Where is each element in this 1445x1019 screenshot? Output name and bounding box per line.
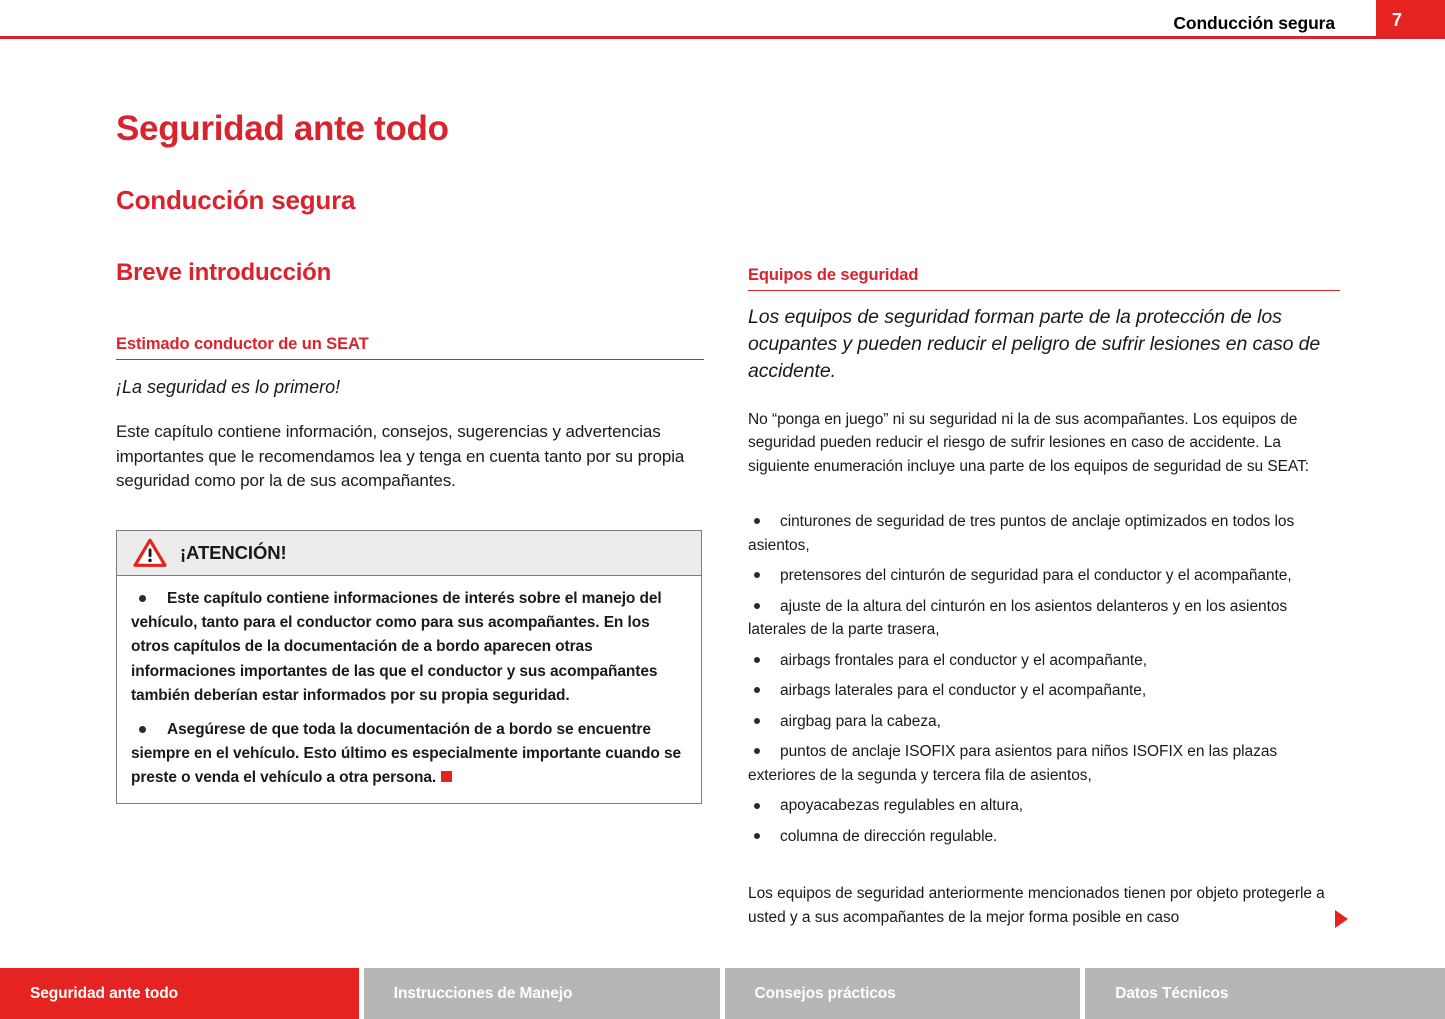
- chapter-subtitle: Conducción segura: [116, 187, 355, 213]
- page-title: Seguridad ante todo: [116, 111, 449, 146]
- list-item: apoyacabezas regulables en altura,: [748, 794, 1340, 818]
- footer-tab-instrucciones-de-manejo[interactable]: Instrucciones de Manejo: [364, 968, 720, 1019]
- subsection-heading-estimado-conductor: Estimado conductor de un SEAT: [116, 335, 704, 360]
- right-closing-paragraph-wrapper: Los equipos de seguridad anteriormente m…: [748, 882, 1340, 930]
- page-content: Seguridad ante todo Conducción segura Br…: [0, 38, 1445, 958]
- warning-box: ¡ATENCIÓN! Este capítulo contiene inform…: [116, 530, 702, 804]
- list-item: columna de dirección regulable.: [748, 825, 1340, 849]
- end-of-note-marker-icon: [441, 771, 452, 782]
- right-body-paragraph: No “ponga en juego” ni su seguridad ni l…: [748, 408, 1340, 478]
- section-title: Breve introducción: [116, 261, 331, 285]
- list-item-text: cinturones de seguridad de tres puntos d…: [748, 510, 1340, 557]
- bullet-dot-icon: [754, 657, 760, 663]
- list-item-text: airgbag para la cabeza,: [748, 710, 1340, 734]
- warning-item-text: Asegúrese de que toda la documentación d…: [131, 718, 687, 791]
- subsection-heading-equipos-de-seguridad: Equipos de seguridad: [748, 266, 1340, 291]
- continue-arrow-icon: [1335, 910, 1348, 928]
- footer-tab-label: Instrucciones de Manejo: [394, 985, 573, 1003]
- footer-tab-consejos-practicos[interactable]: Consejos prácticos: [725, 968, 1081, 1019]
- footer-tab-label: Seguridad ante todo: [30, 985, 178, 1003]
- warning-list-item: Asegúrese de que toda la documentación d…: [131, 718, 687, 791]
- page-header: Conducción segura 7: [0, 0, 1445, 38]
- list-item-text: airbags frontales para el conductor y el…: [748, 649, 1340, 673]
- bullet-dot-icon: [139, 595, 146, 602]
- page-number: 7: [1392, 10, 1402, 31]
- warning-triangle-icon: [133, 538, 167, 568]
- list-item: airgbag para la cabeza,: [748, 710, 1340, 734]
- right-lead-italic: Los equipos de seguridad forman parte de…: [748, 304, 1340, 385]
- warning-item-text: Este capítulo contiene informaciones de …: [131, 587, 687, 708]
- footer-tab-label: Datos Técnicos: [1115, 985, 1228, 1003]
- safety-equipment-list: cinturones de seguridad de tres puntos d…: [748, 510, 1340, 856]
- bullet-dot-icon: [754, 803, 760, 809]
- list-item-text: airbags laterales para el conductor y el…: [748, 679, 1340, 703]
- list-item-text: pretensores del cinturón de seguridad pa…: [748, 564, 1340, 588]
- footer-tab-seguridad-ante-todo[interactable]: Seguridad ante todo: [0, 968, 359, 1019]
- footer-tab-bar: Seguridad ante todo Instrucciones de Man…: [0, 968, 1445, 1019]
- list-item: ajuste de la altura del cinturón en los …: [748, 595, 1340, 642]
- warning-box-body: Este capítulo contiene informaciones de …: [117, 576, 701, 803]
- list-item: puntos de anclaje ISOFIX para asientos p…: [748, 740, 1340, 787]
- bullet-dot-icon: [754, 718, 760, 724]
- list-item: airbags frontales para el conductor y el…: [748, 649, 1340, 673]
- list-item-text: columna de dirección regulable.: [748, 825, 1340, 849]
- list-item-text: ajuste de la altura del cinturón en los …: [748, 595, 1340, 642]
- right-closing-paragraph: Los equipos de seguridad anteriormente m…: [748, 885, 1325, 926]
- warning-box-header: ¡ATENCIÓN!: [117, 531, 701, 576]
- bullet-dot-icon: [754, 603, 760, 609]
- footer-tab-label: Consejos prácticos: [755, 985, 896, 1003]
- left-body-paragraph: Este capítulo contiene información, cons…: [116, 420, 704, 494]
- warning-item-text-value: Asegúrese de que toda la documentación d…: [131, 721, 681, 786]
- bullet-dot-icon: [754, 518, 760, 524]
- footer-tab-datos-tecnicos[interactable]: Datos Técnicos: [1085, 968, 1445, 1019]
- list-item: pretensores del cinturón de seguridad pa…: [748, 564, 1340, 588]
- list-item: cinturones de seguridad de tres puntos d…: [748, 510, 1340, 557]
- warning-box-label: ¡ATENCIÓN!: [180, 542, 287, 564]
- list-item: airbags laterales para el conductor y el…: [748, 679, 1340, 703]
- bullet-dot-icon: [139, 726, 146, 733]
- list-item-text: puntos de anclaje ISOFIX para asientos p…: [748, 740, 1340, 787]
- warning-list-item: Este capítulo contiene informaciones de …: [131, 587, 687, 708]
- running-header-title: Conducción segura: [1173, 13, 1335, 34]
- list-item-text: apoyacabezas regulables en altura,: [748, 794, 1340, 818]
- page-number-block: 7: [1376, 0, 1445, 38]
- left-lead-italic: ¡La seguridad es lo primero!: [116, 375, 704, 399]
